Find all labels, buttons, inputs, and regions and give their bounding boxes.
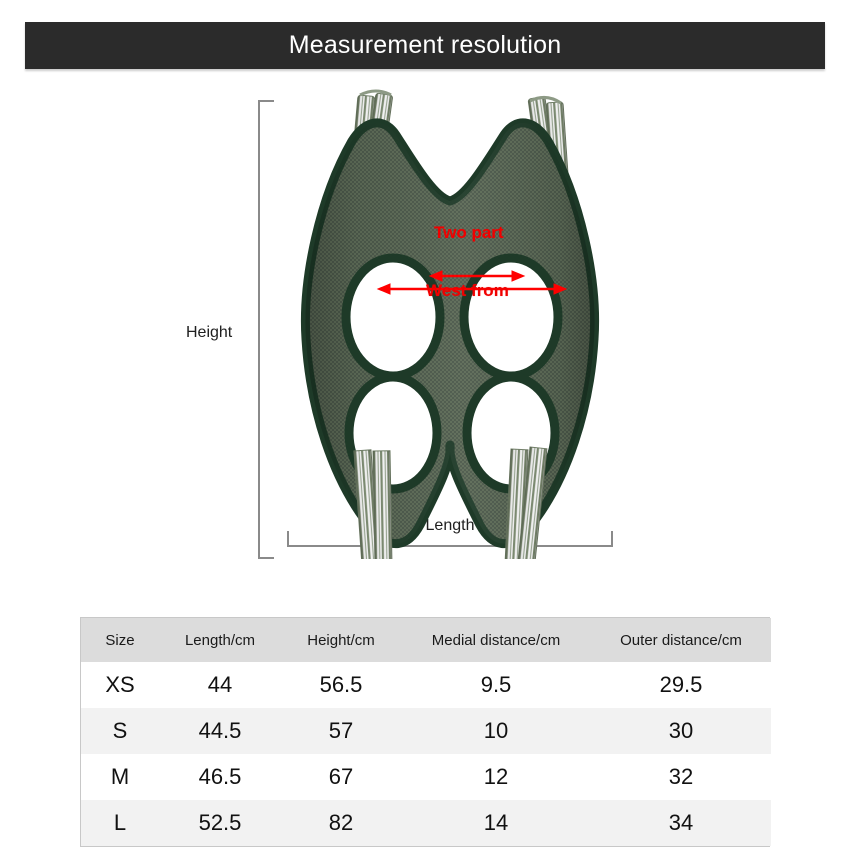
column-header-height: Height/cm bbox=[281, 618, 401, 662]
medial-distance-annotation-label: Two part bbox=[434, 223, 504, 243]
page-title: Measurement resolution bbox=[289, 33, 562, 58]
height-dimension-label: Height bbox=[186, 324, 232, 342]
cell-length: 46.5 bbox=[159, 754, 281, 800]
table-row: S 44.5 57 10 30 bbox=[81, 708, 771, 754]
measurement-diagram: Height Length bbox=[0, 69, 850, 614]
cell-medial: 9.5 bbox=[401, 662, 591, 708]
cell-outer: 34 bbox=[591, 800, 771, 846]
cell-height: 56.5 bbox=[281, 662, 401, 708]
strap-bottom-left bbox=[354, 450, 393, 559]
cell-height: 67 bbox=[281, 754, 401, 800]
table-row: XS 44 56.5 9.5 29.5 bbox=[81, 662, 771, 708]
cell-outer: 32 bbox=[591, 754, 771, 800]
cell-height: 57 bbox=[281, 708, 401, 754]
cell-outer: 30 bbox=[591, 708, 771, 754]
cell-height: 82 bbox=[281, 800, 401, 846]
cell-outer: 29.5 bbox=[591, 662, 771, 708]
column-header-medial: Medial distance/cm bbox=[401, 618, 591, 662]
cell-size: S bbox=[81, 708, 159, 754]
table-row: L 52.5 82 14 34 bbox=[81, 800, 771, 846]
table-row: M 46.5 67 12 32 bbox=[81, 754, 771, 800]
cell-length: 44 bbox=[159, 662, 281, 708]
cell-length: 52.5 bbox=[159, 800, 281, 846]
column-header-length: Length/cm bbox=[159, 618, 281, 662]
cell-size: XS bbox=[81, 662, 159, 708]
size-chart-container: Size Length/cm Height/cm Medial distance… bbox=[80, 617, 770, 847]
cell-medial: 10 bbox=[401, 708, 591, 754]
height-bracket bbox=[258, 100, 274, 559]
cell-medial: 12 bbox=[401, 754, 591, 800]
product-image bbox=[280, 89, 620, 559]
size-chart-table: Size Length/cm Height/cm Medial distance… bbox=[81, 618, 771, 846]
page-header-bar: Measurement resolution bbox=[25, 22, 825, 69]
column-header-outer: Outer distance/cm bbox=[591, 618, 771, 662]
cell-size: L bbox=[81, 800, 159, 846]
outer-distance-annotation-label: West from bbox=[426, 281, 509, 301]
cell-length: 44.5 bbox=[159, 708, 281, 754]
column-header-size: Size bbox=[81, 618, 159, 662]
table-header-row: Size Length/cm Height/cm Medial distance… bbox=[81, 618, 771, 662]
cell-medial: 14 bbox=[401, 800, 591, 846]
cell-size: M bbox=[81, 754, 159, 800]
